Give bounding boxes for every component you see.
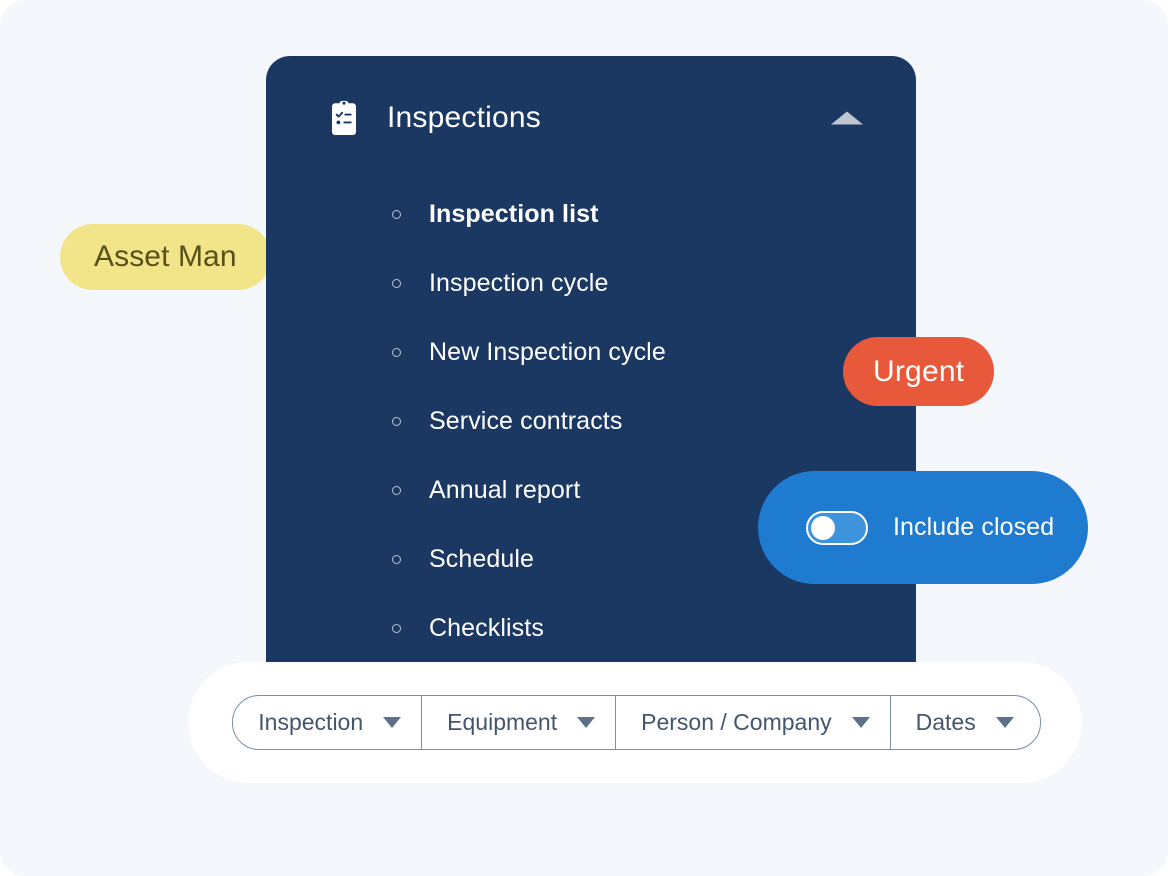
bullet-icon	[392, 417, 401, 426]
nav-item-checklists[interactable]: Checklists	[266, 594, 916, 662]
clipboard-check-icon	[329, 100, 359, 136]
bullet-icon	[392, 279, 401, 288]
filter-label: Dates	[916, 709, 976, 736]
nav-item-label: Service contracts	[429, 407, 622, 436]
nav-item-label: Inspection list	[429, 200, 599, 229]
chevron-down-icon	[996, 717, 1014, 728]
nav-item-inspection-cycle[interactable]: Inspection cycle	[266, 249, 916, 318]
nav-item-inspection-list[interactable]: Inspection list	[266, 180, 916, 249]
include-closed-switch[interactable]	[806, 511, 868, 545]
filter-label: Person / Company	[641, 709, 831, 736]
nav-item-label: Checklists	[429, 614, 544, 643]
nav-item-label: Inspection cycle	[429, 269, 608, 298]
nav-item-label: Schedule	[429, 545, 534, 574]
app-canvas: Asset Man Inspections Inspection list	[0, 0, 1168, 876]
nav-item-label: New Inspection cycle	[429, 338, 666, 367]
nav-panel-title: Inspections	[387, 101, 541, 135]
bullet-icon	[392, 348, 401, 357]
chevron-down-icon	[577, 717, 595, 728]
nav-item-new-inspection-cycle[interactable]: New Inspection cycle	[266, 318, 916, 387]
include-closed-label: Include closed	[893, 513, 1054, 542]
chevron-down-icon	[383, 717, 401, 728]
bullet-icon	[392, 624, 401, 633]
filter-person-company[interactable]: Person / Company	[616, 696, 890, 749]
filter-bar: Inspection Equipment Person / Company Da…	[232, 695, 1040, 750]
nav-item-label: Annual report	[429, 476, 580, 505]
bullet-icon	[392, 486, 401, 495]
urgent-status-badge[interactable]: Urgent	[843, 337, 994, 406]
nav-panel-header[interactable]: Inspections	[266, 56, 916, 180]
bullet-icon	[392, 555, 401, 564]
filter-label: Equipment	[447, 709, 557, 736]
nav-item-list: Inspection list Inspection cycle New Ins…	[266, 180, 916, 662]
include-closed-toggle-pill[interactable]: Include closed	[758, 471, 1088, 584]
bullet-icon	[392, 210, 401, 219]
filter-label: Inspection	[258, 709, 363, 736]
filter-card: Inspection Equipment Person / Company Da…	[188, 662, 1082, 783]
asset-management-pill[interactable]: Asset Man	[60, 224, 271, 290]
nav-item-service-contracts[interactable]: Service contracts	[266, 387, 916, 456]
filter-equipment[interactable]: Equipment	[422, 696, 616, 749]
toggle-knob	[811, 516, 835, 540]
chevron-up-icon[interactable]	[831, 112, 863, 125]
filter-dates[interactable]: Dates	[891, 696, 1040, 749]
urgent-badge-label: Urgent	[873, 355, 964, 389]
asset-management-label: Asset Man	[94, 240, 237, 274]
filter-inspection[interactable]: Inspection	[233, 696, 422, 749]
chevron-down-icon	[852, 717, 870, 728]
